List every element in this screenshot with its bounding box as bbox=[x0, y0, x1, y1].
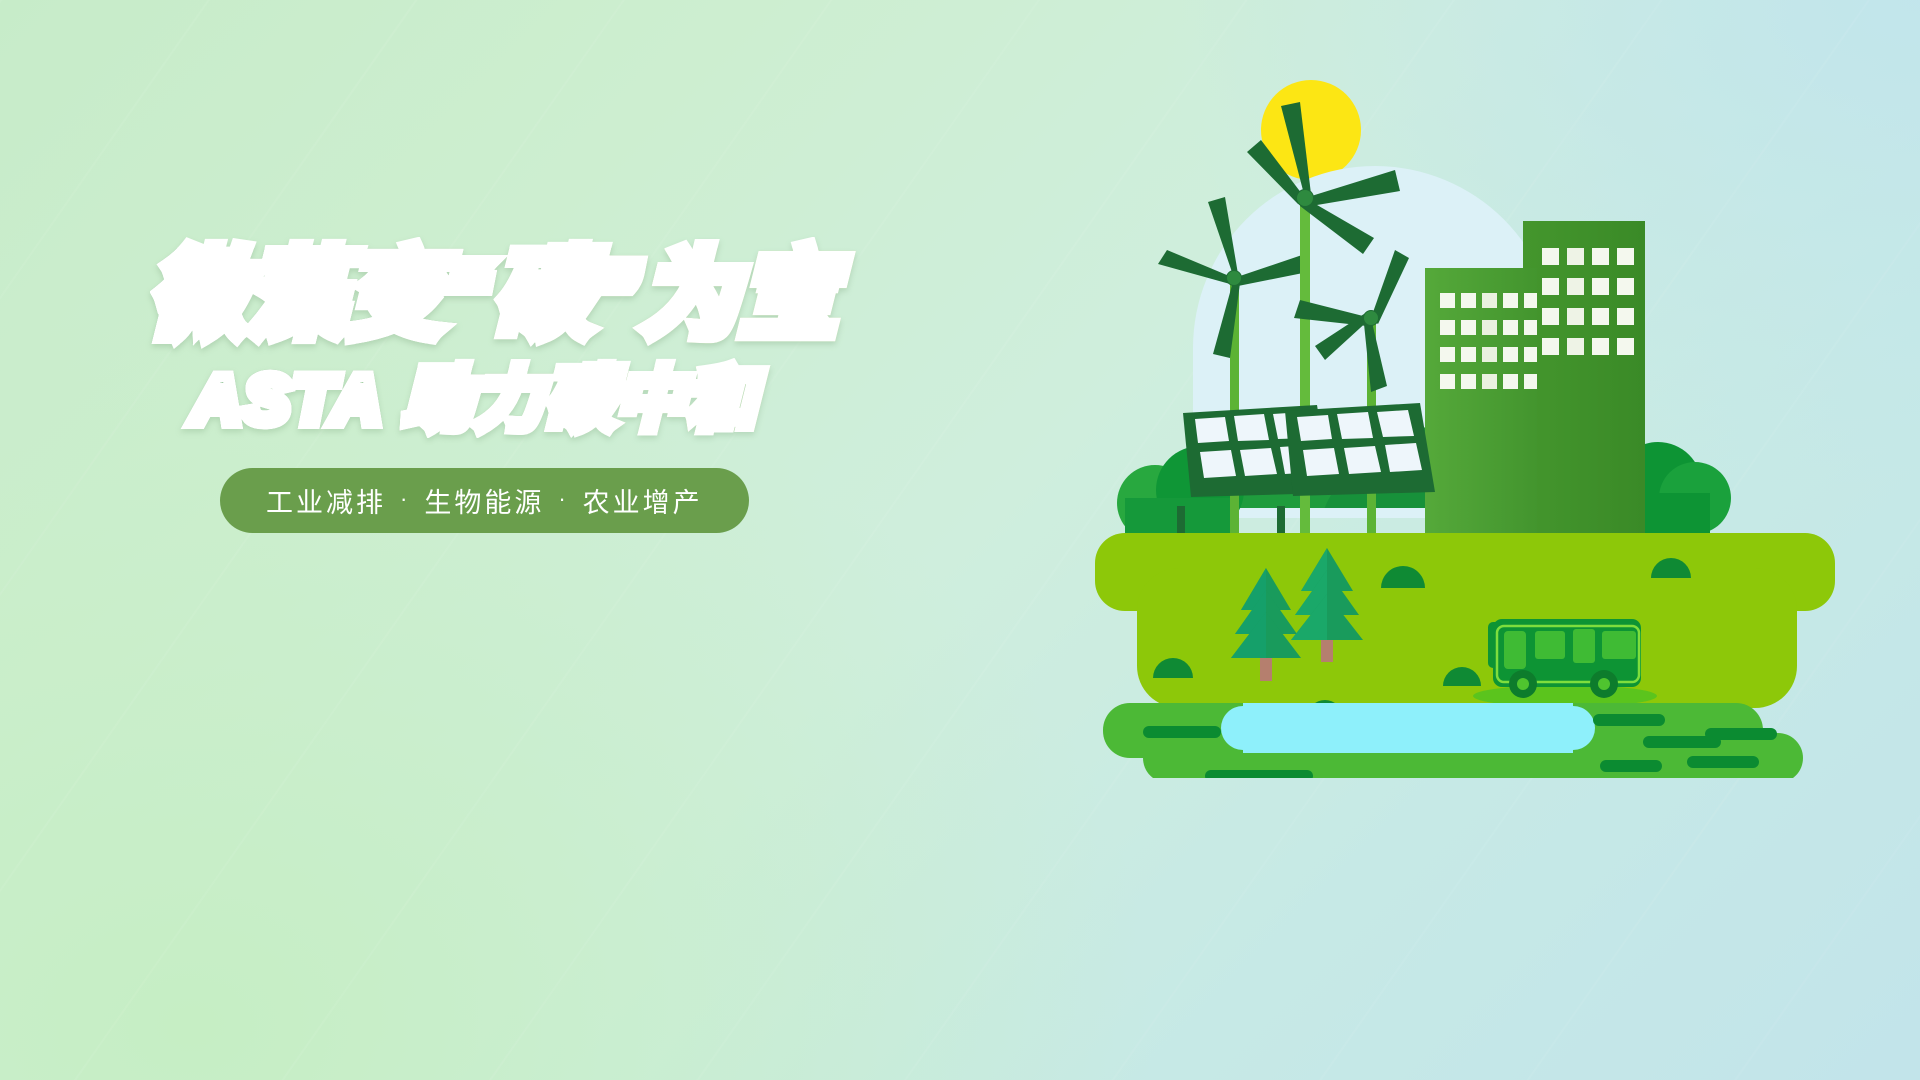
tagline-item-bioenergy: 生物能源 bbox=[424, 481, 544, 520]
lake-water bbox=[1221, 703, 1595, 753]
building-right bbox=[1523, 221, 1645, 543]
tagline-separator-2: · bbox=[544, 486, 582, 512]
page-subtitle: ASTA 助力碳中和 bbox=[150, 366, 910, 434]
eco-city-illustration bbox=[1095, 78, 1855, 778]
bus-icon bbox=[1473, 619, 1657, 707]
tagline-separator-1: · bbox=[386, 486, 424, 512]
banner-text-block: 微藻变“碳”为宝 ASTA 助力碳中和 工业减排 · 生物能源 · 农业增产 bbox=[150, 248, 910, 533]
tagline-item-agriculture-yield: 农业增产 bbox=[583, 481, 703, 520]
page-title: 微藻变“碳”为宝 bbox=[150, 248, 910, 344]
tagline-badge: 工业减排 · 生物能源 · 农业增产 bbox=[220, 468, 749, 533]
building-left bbox=[1425, 268, 1537, 543]
tagline-item-industrial-reduction: 工业减排 bbox=[266, 481, 386, 520]
